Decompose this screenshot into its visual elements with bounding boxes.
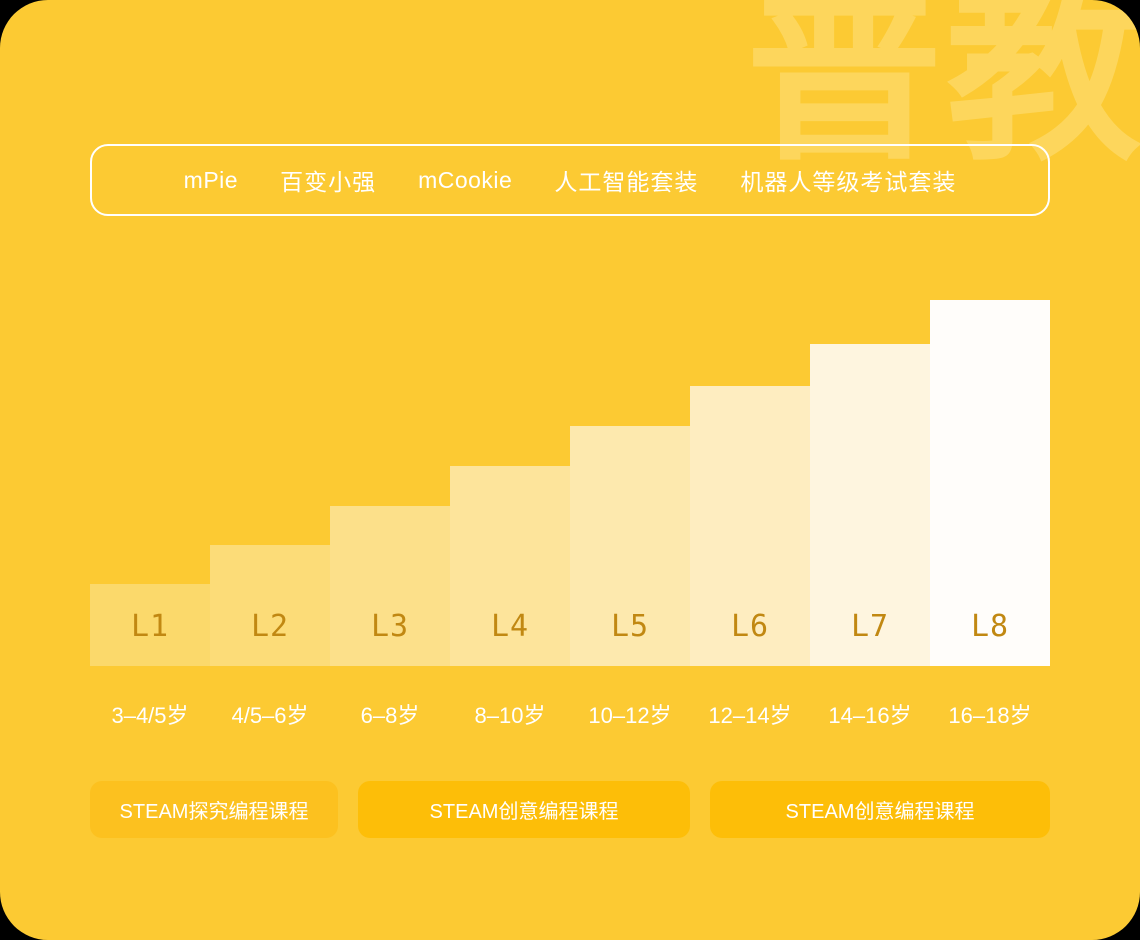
bar-l1[interactable]: L1 <box>90 584 210 666</box>
tab-1[interactable]: 百变小强 <box>259 163 397 197</box>
age-label: 10–12岁 <box>570 698 690 730</box>
bar-l5[interactable]: L5 <box>570 426 690 666</box>
promo-card: 普教 mPie百变小强mCookie人工智能套装机器人等级考试套装 L1L2L3… <box>0 0 1140 940</box>
level-bar-chart: L1L2L3L4L5L6L7L8 <box>90 280 1050 666</box>
bar-l3[interactable]: L3 <box>330 506 450 666</box>
bar-label: L4 <box>450 609 570 644</box>
tab-3[interactable]: 人工智能套装 <box>533 163 719 197</box>
tab-4[interactable]: 机器人等级考试套装 <box>719 163 977 197</box>
product-tab-bar: mPie百变小强mCookie人工智能套装机器人等级考试套装 <box>90 144 1050 216</box>
bar-l4[interactable]: L4 <box>450 466 570 666</box>
bar-label: L7 <box>810 609 930 644</box>
age-label: 12–14岁 <box>690 698 810 730</box>
tab-2[interactable]: mCookie <box>397 167 533 194</box>
bar-l8[interactable]: L8 <box>930 300 1050 666</box>
age-label: 8–10岁 <box>450 698 570 730</box>
course-button-0[interactable]: STEAM探究编程课程 <box>90 781 338 838</box>
bar-l7[interactable]: L7 <box>810 344 930 666</box>
bar-label: L6 <box>690 609 810 644</box>
tab-0[interactable]: mPie <box>163 167 259 194</box>
bar-label: L5 <box>570 609 690 644</box>
bar-l2[interactable]: L2 <box>210 545 330 666</box>
bar-label: L8 <box>930 609 1050 644</box>
age-label: 16–18岁 <box>930 698 1050 730</box>
course-button-row: STEAM探究编程课程STEAM创意编程课程STEAM创意编程课程 <box>90 781 1050 838</box>
bar-l6[interactable]: L6 <box>690 386 810 666</box>
age-label: 3–4/5岁 <box>90 698 210 730</box>
course-button-1[interactable]: STEAM创意编程课程 <box>358 781 690 838</box>
age-range-row: 3–4/5岁4/5–6岁6–8岁8–10岁10–12岁12–14岁14–16岁1… <box>90 698 1050 730</box>
bar-label: L3 <box>330 609 450 644</box>
bar-label: L1 <box>90 609 210 644</box>
bar-label: L2 <box>210 609 330 644</box>
age-label: 4/5–6岁 <box>210 698 330 730</box>
age-label: 14–16岁 <box>810 698 930 730</box>
age-label: 6–8岁 <box>330 698 450 730</box>
course-button-2[interactable]: STEAM创意编程课程 <box>710 781 1050 838</box>
